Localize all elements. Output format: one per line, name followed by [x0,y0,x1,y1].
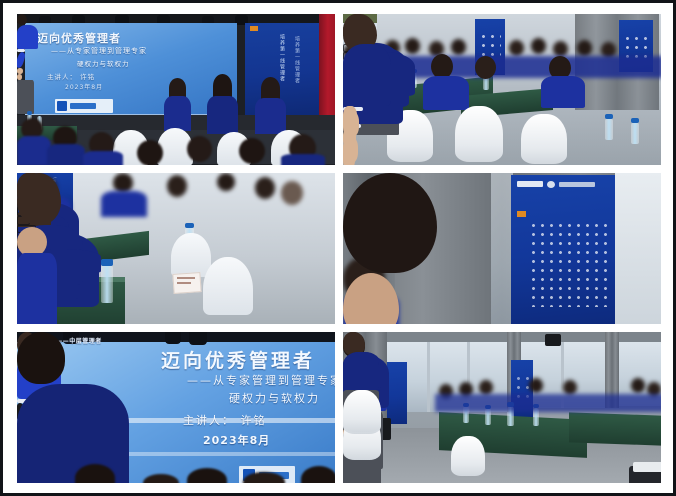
attendee-clapping-5 [343,14,391,128]
slide-line3-large: 硬权力与软权力 [229,390,320,406]
slide-date: 2023年8月 [65,82,103,91]
slide-line3: 硬权力与软权力 [77,58,130,68]
side-banner-text-2: 培养第一线管理者 [294,36,301,84]
slide-speaker-large: 主讲人： 许铭 [183,412,267,428]
participant-speaking [343,173,455,324]
photo-stage-presentation[interactable]: 迈向优秀管理者 ——从专家管理到管理专家 硬权力与软权力 主讲人： 许铭 202… [17,14,335,165]
speaker-on-stage [17,14,38,114]
slide-title-large: 迈向优秀管理者 [161,346,315,373]
photo-cell-bottom-right[interactable] [339,328,665,487]
slide-subtitle-large: ——从专家管理到管理专家 [187,372,335,388]
photo-trainer-with-mic[interactable]: 新里程·培训——中层管理者 迈向优秀管理者 ——从专家管理到管理专家 硬权力与软… [17,332,335,483]
foreground-attendee-back [17,332,129,483]
photo-cell-middle-right[interactable] [339,169,665,328]
photo-cell-bottom-left[interactable]: 新里程·培训——中层管理者 迈向优秀管理者 ——从专家管理到管理专家 硬权力与软… [13,328,339,487]
slide-subtitle: ——从专家管理到管理专家 [51,46,147,56]
photo-grid: 迈向优秀管理者 ——从专家管理到管理专家 硬权力与软权力 主讲人： 许铭 202… [13,10,665,488]
slide-title: 迈向优秀管理者 [37,30,121,46]
attendee-back-3 [261,77,280,100]
photo-participant-question[interactable] [343,173,661,324]
photo-cell-top-right[interactable] [339,10,665,169]
photo-room-wide-interaction[interactable] [343,332,661,483]
banner-pattern [529,221,609,307]
slide-speaker: 主讲人： 许铭 [47,71,95,81]
photo-cell-middle-left[interactable]: \u4f18\u79c0\u7ba1\u7406 [13,169,339,328]
attendee-back-2 [213,74,232,98]
seated-participant-3 [343,332,381,432]
slide-date-large: 2023年8月 [203,432,270,448]
collage-page: 迈向优秀管理者 ——从专家管理到管理专家 硬权力与软权力 主讲人： 许铭 202… [0,0,676,496]
attendee-back-1 [169,78,186,98]
red-curtain [319,14,335,119]
photo-audience-closeup[interactable]: \u4f18\u79c0\u7ba1\u7406 [17,173,335,324]
side-banner-text: 培养第一线管理者 [279,34,286,82]
photo-audience-applause[interactable] [343,14,661,165]
photo-cell-top-left[interactable]: 迈向优秀管理者 ——从专家管理到管理专家 硬权力与软权力 主讲人： 许铭 202… [13,10,339,169]
roll-up-banner-b [387,362,407,424]
ceiling-speaker-right [545,334,561,346]
